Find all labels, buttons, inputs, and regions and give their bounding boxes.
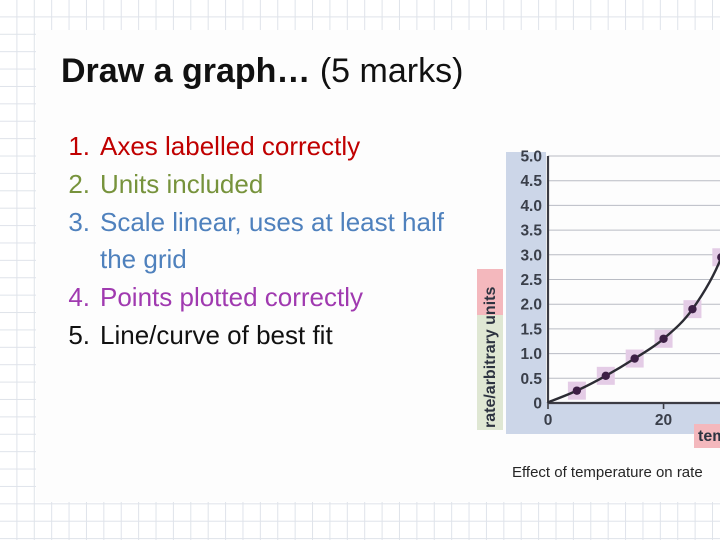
chart-caption: Effect of temperature on rate [512,464,703,481]
list-item: 4. Points plotted correctly [56,279,456,316]
list-item-label: Line/curve of best fit [100,317,456,354]
list-item-number: 1. [56,128,100,165]
slide-canvas: Draw a graph… (5 marks) 1. Axes labelled… [0,0,720,540]
y-tick-label: 5.0 [520,150,542,166]
list-item-label: Scale linear, uses at least half the gri… [100,204,456,278]
x-axis-title: temperature [698,428,720,445]
page-title-bold: Draw a graph… [61,52,310,90]
data-point-marker [688,305,696,313]
y-tick-label: 0.5 [520,371,542,388]
y-tick-label: 3.5 [520,223,542,240]
y-tick-label: 2.5 [520,272,542,289]
gridlines [548,156,720,378]
y-tick-labels: 5.04.54.03.53.02.52.01.51.00.50 [520,150,542,413]
data-point-marker [630,354,638,362]
checklist: 1. Axes labelled correctly 2. Units incl… [56,128,456,354]
data-point-highlights [568,248,720,399]
y-tick-label: 3.0 [520,247,542,264]
list-item-label: Axes labelled correctly [100,128,456,165]
data-point-marker [659,335,667,343]
y-axis-title: rate/arbitrary units [482,287,499,428]
list-item-number: 2. [56,166,100,203]
axes [548,156,720,409]
y-axis-title-group: rate/arbitrary units [477,269,503,430]
chart-figure: rate/arbitrary units 5.04.54.03.53.02.52… [470,150,720,505]
x-tick-label: 0 [544,412,553,429]
list-item-number: 4. [56,279,100,316]
data-point-markers [573,253,720,395]
data-point-marker [573,386,581,394]
y-tick-label: 0 [533,396,542,413]
list-item-label: Points plotted correctly [100,279,456,316]
page-title-marks: (5 marks) [310,52,463,90]
y-tick-label: 1.5 [520,321,542,338]
list-item: 1. Axes labelled correctly [56,128,456,165]
y-tick-label: 1.0 [520,346,542,363]
content-card: Draw a graph… (5 marks) 1. Axes labelled… [36,30,720,502]
list-item: 3. Scale linear, uses at least half the … [56,204,456,278]
rate-vs-temperature-chart: rate/arbitrary units 5.04.54.03.53.02.52… [470,150,720,505]
y-tick-label: 2.0 [520,297,542,314]
x-tick-label: 20 [655,412,672,429]
y-tick-highlight-band [506,152,546,434]
data-point-marker [602,372,610,380]
y-tick-label: 4.0 [520,198,542,215]
list-item-number: 5. [56,317,100,354]
y-tick-label: 4.5 [520,173,542,190]
list-item: 5. Line/curve of best fit [56,317,456,354]
list-item-number: 3. [56,204,100,241]
list-item-label: Units included [100,166,456,203]
list-item: 2. Units included [56,166,456,203]
page-title: Draw a graph… (5 marks) [61,53,463,90]
